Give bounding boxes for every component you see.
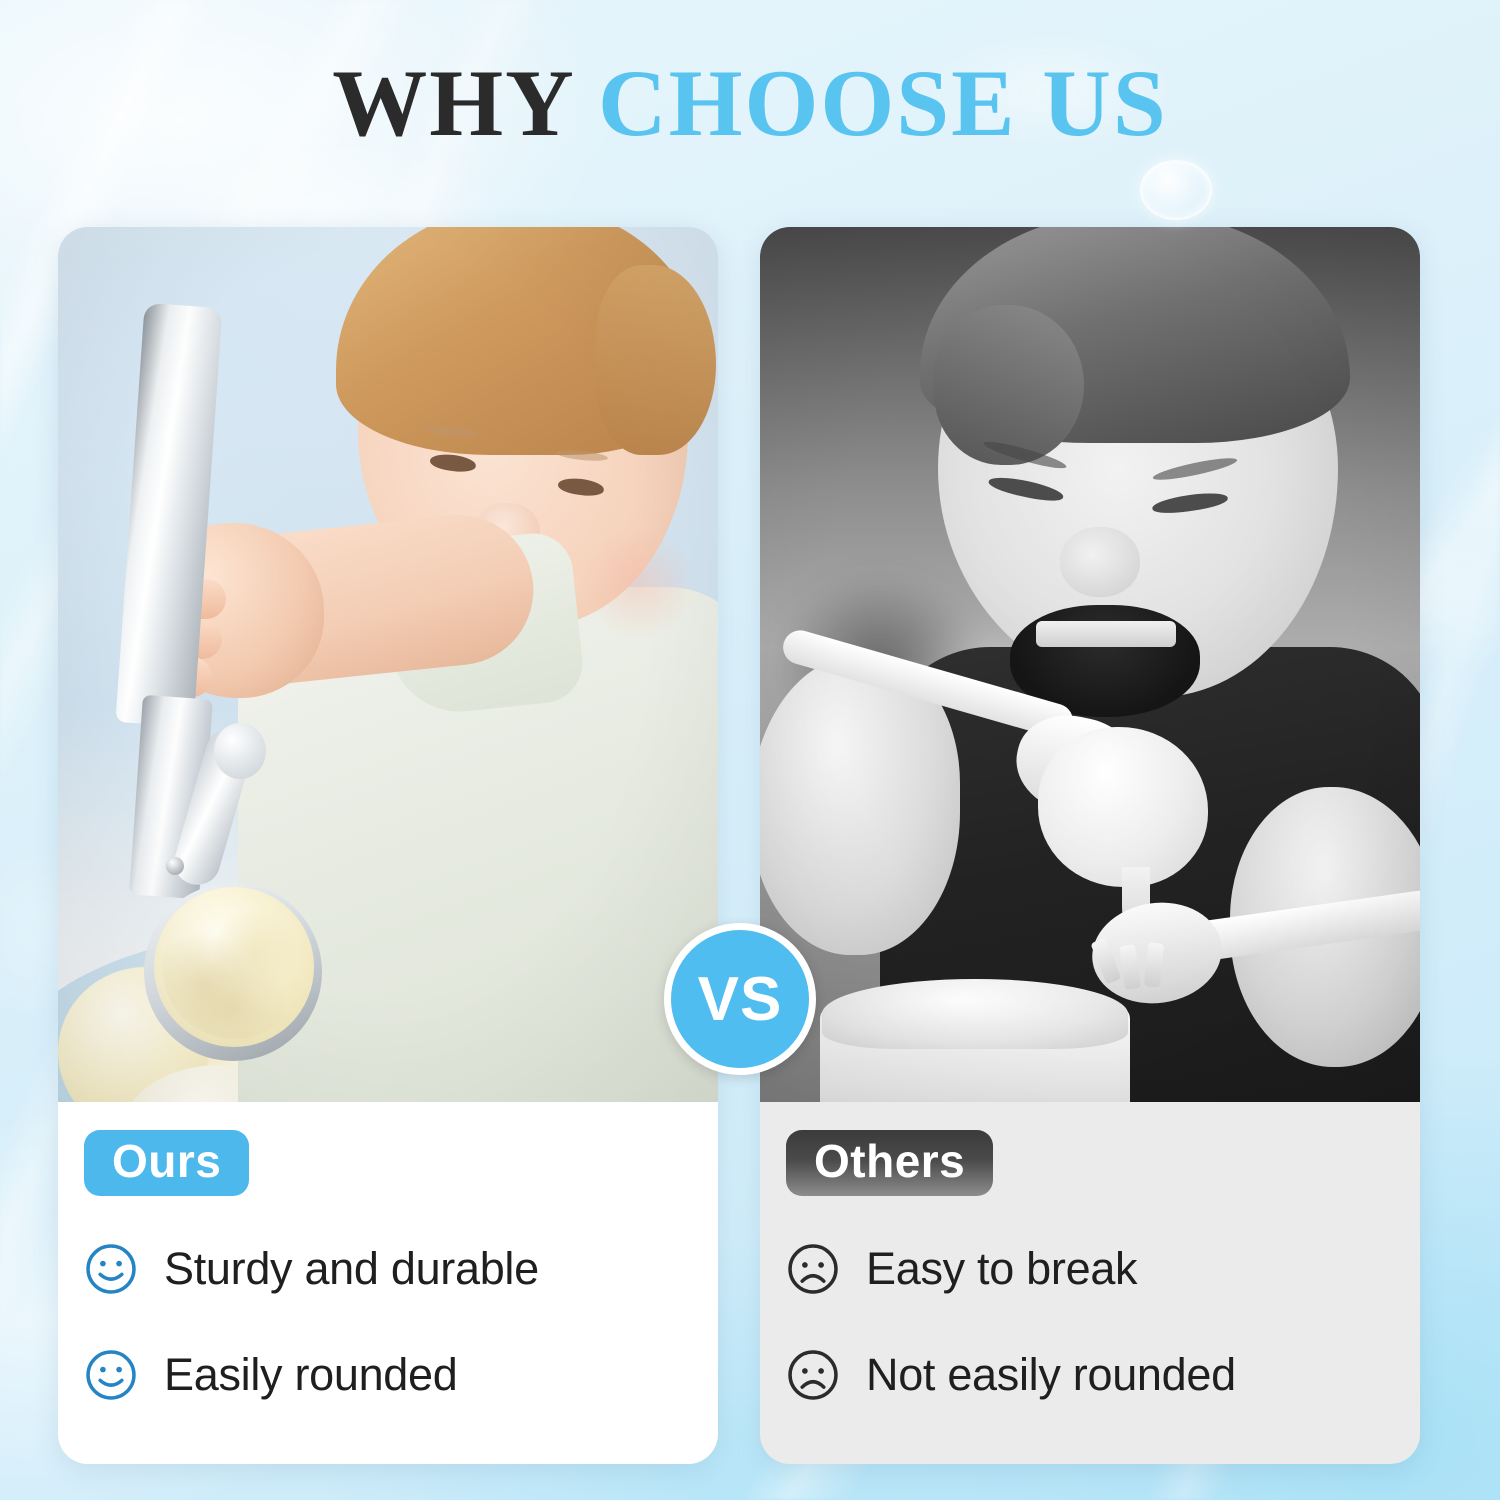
badge-others: Others: [786, 1130, 993, 1196]
feature-row: Sturdy and durable: [84, 1242, 718, 1296]
feature-list-ours: Sturdy and durable Easily rounded: [84, 1242, 718, 1402]
smiley-face-icon: [84, 1348, 138, 1402]
child-nose-others: [1060, 527, 1140, 597]
comparison-card-ours: Ours Sturdy and durable: [58, 227, 718, 1464]
page-title-part-1: WHY: [332, 50, 598, 156]
child-teeth-others: [1036, 621, 1176, 647]
page-title: WHY CHOOSE US: [0, 56, 1500, 151]
feature-text: Easily rounded: [164, 1349, 458, 1401]
feature-text: Sturdy and durable: [164, 1243, 539, 1295]
feature-list-others: Easy to break Not easily rounded: [786, 1242, 1420, 1402]
frowny-face-icon: [786, 1242, 840, 1296]
frowny-face-icon: [786, 1348, 840, 1402]
product-photo-ours: [58, 227, 718, 1102]
child-hair-others: [920, 227, 1350, 443]
feature-row: Easily rounded: [84, 1348, 718, 1402]
ice-cream-in-tub: [822, 979, 1128, 1049]
feature-panel-others: Others Easy to break: [760, 1102, 1420, 1464]
feature-panel-ours: Ours Sturdy and durable: [58, 1102, 718, 1464]
scoop-pivot-screw: [166, 857, 184, 875]
feature-row: Easy to break: [786, 1242, 1420, 1296]
vs-badge: VS: [664, 923, 816, 1075]
badge-ours: Ours: [84, 1130, 249, 1196]
child-hair-ours: [336, 227, 708, 455]
comparison-card-others: Others Easy to break: [760, 227, 1420, 1464]
product-photo-others: [760, 227, 1420, 1102]
page-title-part-2: CHOOSE US: [598, 50, 1168, 156]
feature-row: Not easily rounded: [786, 1348, 1420, 1402]
ice-cream-on-spork: [1038, 727, 1208, 887]
feature-text: Easy to break: [866, 1243, 1137, 1295]
scooped-ice-cream-ball: [154, 887, 314, 1047]
scoop-lever-knob: [214, 723, 266, 779]
child-cheek-ours: [578, 527, 698, 637]
smiley-face-icon: [84, 1242, 138, 1296]
feature-text: Not easily rounded: [866, 1349, 1236, 1401]
